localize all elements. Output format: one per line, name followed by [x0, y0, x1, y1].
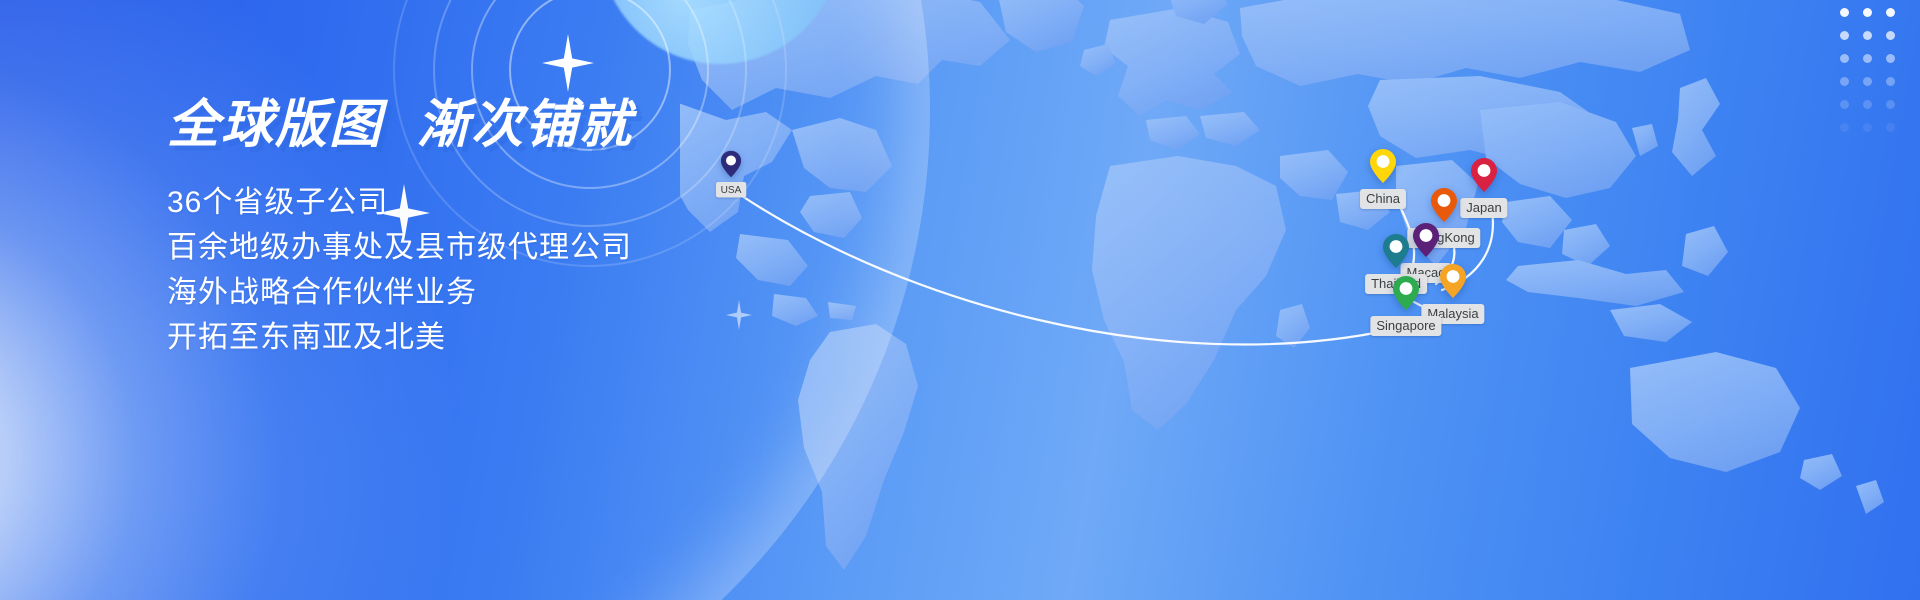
map-pin-macao[interactable]: Macao: [1413, 223, 1439, 257]
map-pin-thailand[interactable]: Thailand: [1383, 234, 1409, 268]
headline-right: 渐次铺就: [417, 96, 633, 154]
map-pin-malaysia[interactable]: Malaysia: [1440, 264, 1466, 298]
location-pin-icon: [721, 151, 741, 178]
location-pin-icon: [1471, 158, 1497, 192]
list-item: 海外战略合作伙伴业务: [167, 270, 927, 315]
map-pin-usa[interactable]: USA: [721, 151, 741, 178]
page-title: 全球版图渐次铺就: [167, 96, 927, 154]
location-pin-icon: [1370, 149, 1396, 183]
map-pin-hongkong[interactable]: HongKong: [1431, 188, 1457, 222]
location-pin-icon: [1413, 223, 1439, 257]
list-item: 百余地级办事处及县市级代理公司: [167, 225, 927, 270]
copy-block: 全球版图渐次铺就 36个省级子公司 百余地级办事处及县市级代理公司 海外战略合作…: [167, 96, 927, 360]
map-pin-china[interactable]: China: [1370, 149, 1396, 183]
map-pin-singapore[interactable]: Singapore: [1393, 276, 1419, 310]
sparkle-icon: [542, 34, 594, 92]
map-pin-label-japan: Japan: [1460, 198, 1507, 218]
map-pin-label-china: China: [1360, 189, 1406, 209]
map-pin-japan[interactable]: Japan: [1471, 158, 1497, 192]
location-pin-icon: [1393, 276, 1419, 310]
headline-left: 全球版图: [167, 96, 383, 154]
location-pin-icon: [1383, 234, 1409, 268]
list-item: 开拓至东南亚及北美: [167, 315, 927, 360]
list-item: 36个省级子公司: [167, 180, 927, 225]
global-map-banner: 全球版图渐次铺就 36个省级子公司 百余地级办事处及县市级代理公司 海外战略合作…: [0, 0, 1920, 600]
location-pin-icon: [1431, 188, 1457, 222]
highlight-list: 36个省级子公司 百余地级办事处及县市级代理公司 海外战略合作伙伴业务 开拓至东…: [167, 180, 927, 360]
map-pin-label-usa: USA: [716, 182, 746, 198]
map-pin-label-singapore: Singapore: [1370, 316, 1441, 336]
location-pin-icon: [1440, 264, 1466, 298]
